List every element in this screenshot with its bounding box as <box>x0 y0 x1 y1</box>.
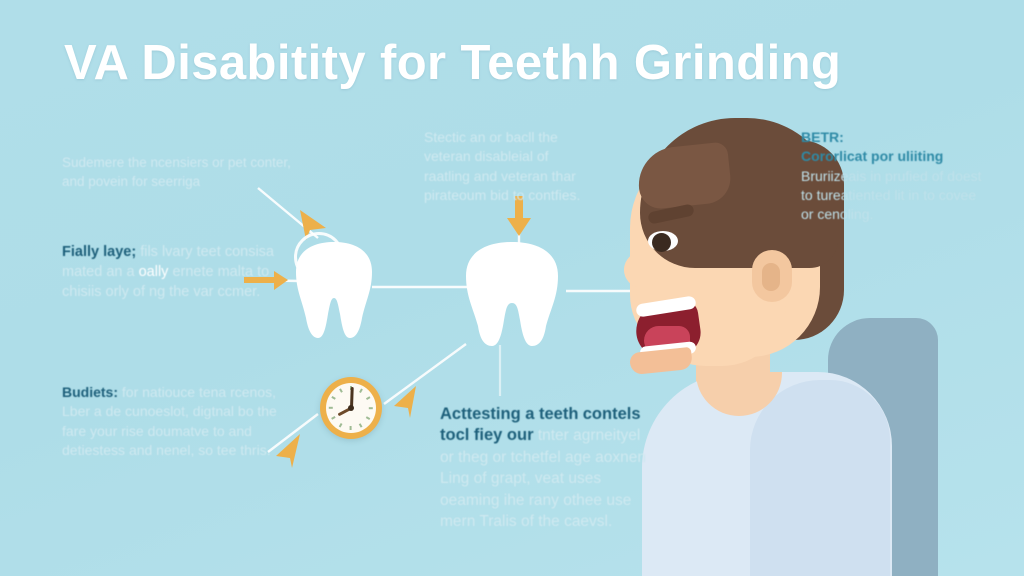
top-left-callout: Sudemere the ncensiers or pet conter, an… <box>62 154 304 191</box>
top-center-line-3: raatling and veteran <box>424 168 548 184</box>
bottom-left-callout: Budiets: for natiouce tena rcenos, Lber … <box>62 383 287 460</box>
mid-left-highlight: oally <box>139 264 169 280</box>
clock-icon <box>320 377 382 439</box>
infographic-poster: VA Disabitity for Teethh Grinding <box>0 0 1024 576</box>
bottom-center-callout: Acttesting a teeth contels tocl fiey our… <box>440 404 655 532</box>
tooth-icon-left <box>292 238 376 342</box>
ear-inner <box>762 263 780 291</box>
top-right-callout: BETR: Cororlicat por uliiting Bruriizeai… <box>801 128 986 225</box>
top-left-line-1: Sudemere the ncensiers or pet <box>62 155 247 170</box>
lower-lip <box>629 347 693 375</box>
mid-left-heading: Fially laye; <box>62 244 136 260</box>
eye <box>652 233 671 252</box>
bottom-left-line-5: and nenel, so tee thris. <box>129 442 271 458</box>
top-center-callout: Stectic an or bacll the veteran disablei… <box>424 128 594 205</box>
top-center-line-2: veteran disableial of <box>424 148 549 164</box>
top-right-subheading: Cororlicat por uliiting <box>801 147 986 166</box>
mid-left-line-1: fils lvary teet <box>140 244 221 260</box>
top-right-line-1: Bruriizeais in prufied of <box>801 168 943 184</box>
bottom-center-heading-1: Acttesting a teeth <box>440 405 578 423</box>
top-right-heading: BETR: <box>801 128 986 147</box>
bottom-left-heading: Budiets: <box>62 384 118 400</box>
mid-left-callout: Fially laye; fils lvary teet consisa mat… <box>62 242 277 302</box>
shirt-shadow <box>750 380 890 576</box>
tooth-icon-right <box>462 238 562 350</box>
bottom-center-line-5: Tralis of the caevsl. <box>479 513 612 530</box>
arrow-from-tooth-to-clock <box>380 384 420 422</box>
mid-left-line-4: of ng the var ccmer. <box>133 284 260 300</box>
top-center-line-1: Stectic an or bacll the <box>424 129 558 145</box>
bottom-left-line-1: for natiouce tena <box>122 384 226 400</box>
top-center-line-5: contfies. <box>528 187 580 203</box>
